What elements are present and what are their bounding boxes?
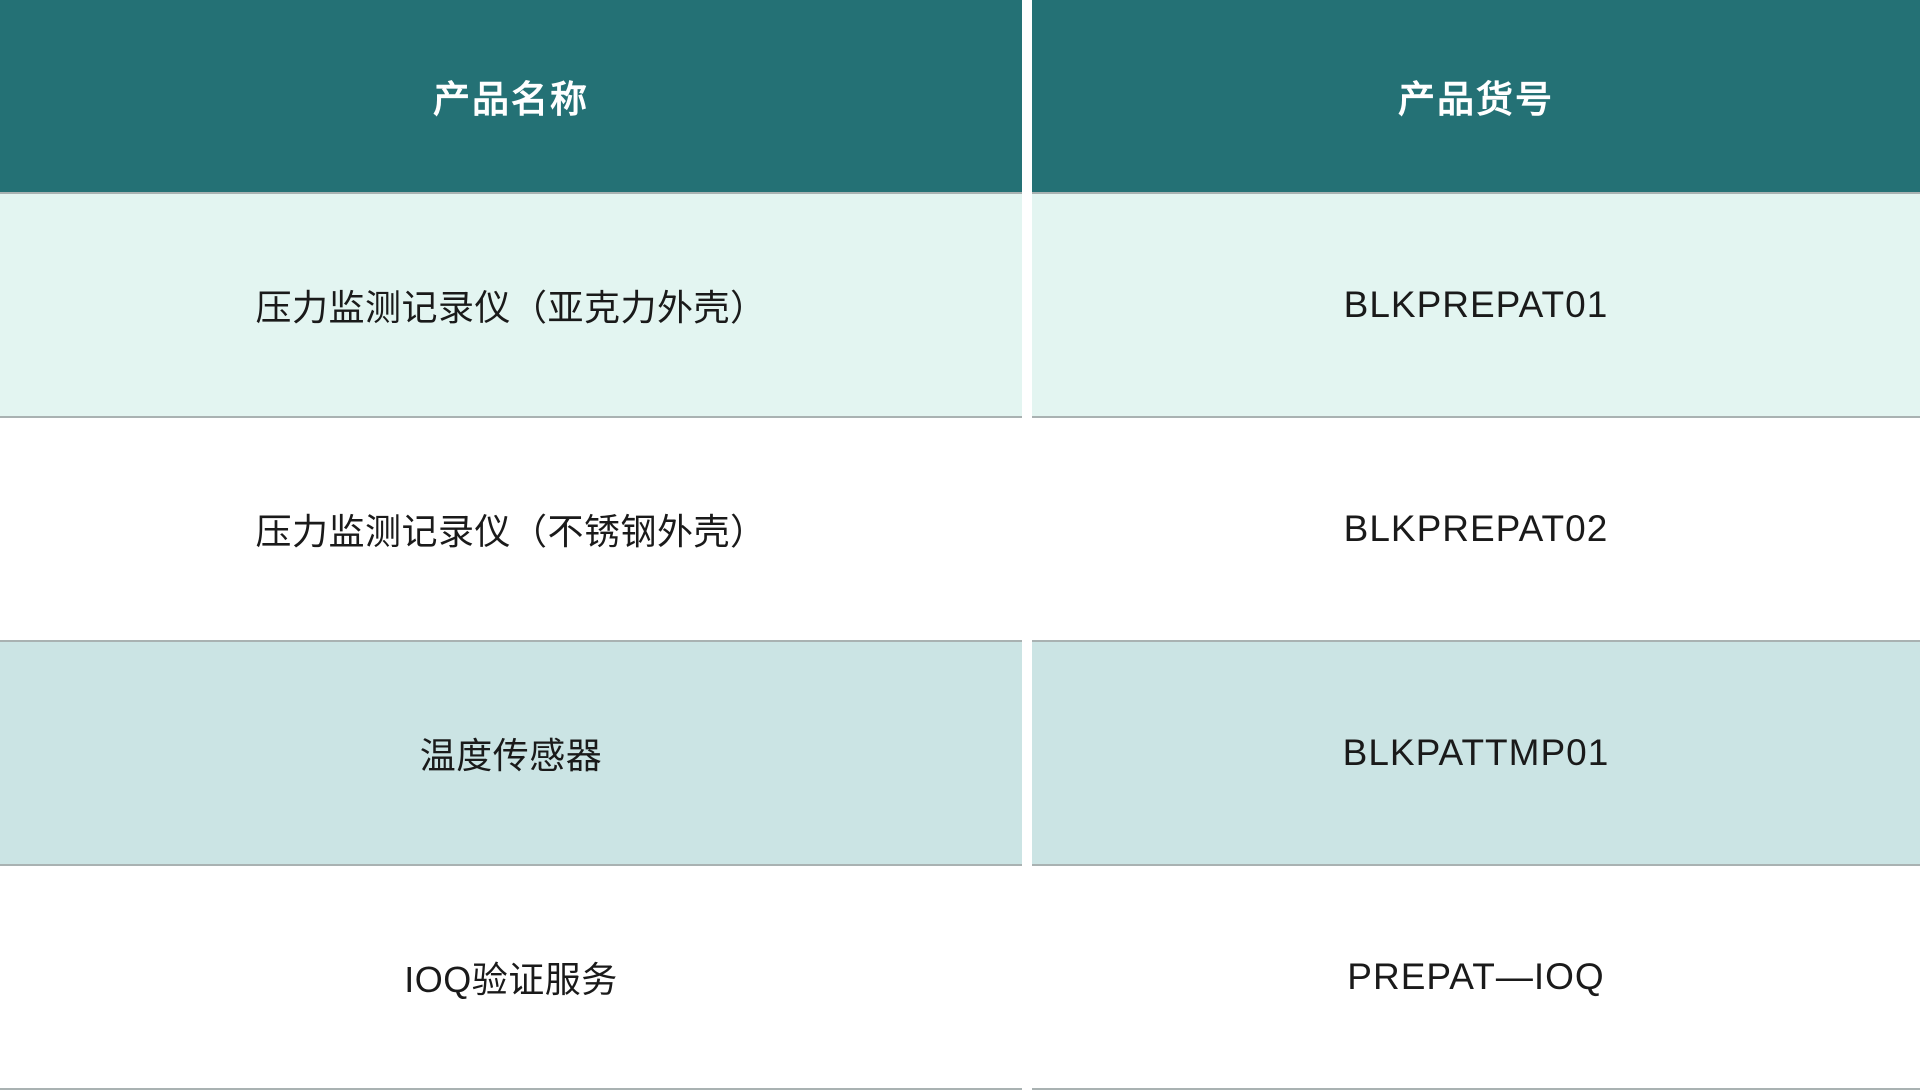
column-divider [1022,193,1032,417]
cell-product-name: 温度传感器 [0,641,1022,865]
header-row: 产品名称 产品货号 [0,0,1920,193]
table-row: 压力监测记录仪（亚克力外壳） BLKPREPAT01 [0,193,1920,417]
table-row: 温度传感器 BLKPATTMP01 [0,641,1920,865]
column-divider [1022,641,1032,865]
product-table: 产品名称 产品货号 压力监测记录仪（亚克力外壳） BLKPREPAT01 压力监… [0,0,1920,1090]
cell-product-code: PREPAT—IOQ [1032,865,1920,1089]
cell-product-code: BLKPATTMP01 [1032,641,1920,865]
table-row: IOQ验证服务 PREPAT—IOQ [0,865,1920,1089]
table-body: 压力监测记录仪（亚克力外壳） BLKPREPAT01 压力监测记录仪（不锈钢外壳… [0,193,1920,1089]
table-row: 压力监测记录仪（不锈钢外壳） BLKPREPAT02 [0,417,1920,641]
column-divider [1022,865,1032,1089]
column-header-product-code: 产品货号 [1032,0,1920,193]
cell-product-code: BLKPREPAT01 [1032,193,1920,417]
cell-product-code: BLKPREPAT02 [1032,417,1920,641]
cell-product-name: 压力监测记录仪（亚克力外壳） [0,193,1022,417]
cell-product-name: 压力监测记录仪（不锈钢外壳） [0,417,1022,641]
column-header-product-name: 产品名称 [0,0,1022,193]
header-column-divider [1022,0,1032,193]
column-divider [1022,417,1032,641]
cell-product-name: IOQ验证服务 [0,865,1022,1089]
table-header: 产品名称 产品货号 [0,0,1920,193]
